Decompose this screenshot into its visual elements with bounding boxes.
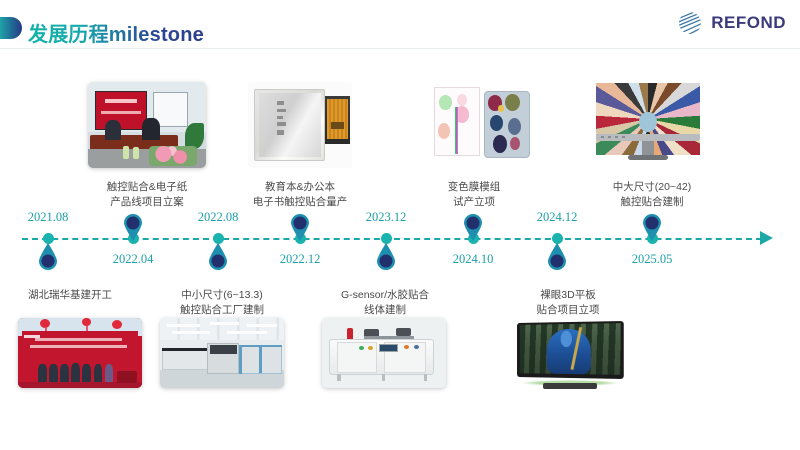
timeline-pin-marker-down[interactable] xyxy=(290,214,310,241)
photo-detail-bottle xyxy=(133,147,139,160)
groundbreaking-ceremony-photo xyxy=(18,318,142,388)
photo-detail-person xyxy=(38,364,47,382)
caption-line: 中小尺寸(6~13.3) xyxy=(180,288,264,303)
photo-detail-person xyxy=(60,364,69,382)
caption-line: 中大尺寸(20~42) xyxy=(613,180,691,195)
arrow-right-icon xyxy=(760,231,773,245)
photo-detail-monitor-base xyxy=(628,155,668,160)
epaper-panel-photo xyxy=(248,82,352,168)
milestone-caption: 触控贴合&电子纸 产品线项目立案 xyxy=(107,180,188,210)
photo-detail-bottle xyxy=(123,146,129,160)
milestone-caption: 中大尺寸(20~42) 触控贴合建制 xyxy=(613,180,691,210)
photo-detail-pencil-hub xyxy=(639,112,657,132)
caption-line: 产品线项目立案 xyxy=(107,195,188,210)
photo-detail-person xyxy=(49,364,58,383)
photo-detail-button xyxy=(368,346,373,350)
photo-detail-glyph xyxy=(277,109,286,112)
photo-detail-panel-body xyxy=(254,89,325,161)
milestone-date: 2022.08 xyxy=(198,210,239,225)
photo-detail-banner-text xyxy=(30,345,127,349)
photo-detail-driver-chip xyxy=(331,122,343,130)
milestone-date: 2022.12 xyxy=(280,252,321,267)
color-changing-film-module-photo xyxy=(428,82,536,168)
photo-detail-monitor-buttons xyxy=(601,136,626,139)
refond-sphere-logo-icon xyxy=(675,8,705,38)
timeline-pin-marker-up[interactable] xyxy=(38,243,58,270)
caption-line: 触控贴合建制 xyxy=(613,195,691,210)
photo-detail-person xyxy=(94,364,103,383)
photo-detail-podium xyxy=(117,371,137,384)
header-divider xyxy=(0,48,800,49)
caption-line: 湖北瑞华基建开工 xyxy=(28,288,112,303)
naked-eye-3d-display-photo xyxy=(508,316,632,390)
timeline-pin-marker-down[interactable] xyxy=(123,214,143,241)
milestone-date: 2021.08 xyxy=(28,210,69,225)
photo-detail-color-stem xyxy=(455,107,458,154)
photo-detail-person xyxy=(71,363,80,383)
photo-detail-glyph xyxy=(277,122,286,125)
photo-detail-glyph xyxy=(277,130,284,135)
photo-detail-person xyxy=(105,120,122,141)
caption-line: 教育本&办公本 xyxy=(253,180,348,195)
caption-line: 触控贴合工厂建制 xyxy=(180,303,264,318)
photo-detail-film-sheet-left xyxy=(434,87,479,156)
photo-detail-flowers xyxy=(149,146,196,167)
photo-detail-flex-cable xyxy=(327,99,348,139)
timeline-pin-marker-down[interactable] xyxy=(642,214,662,241)
page-title: 发展历程milestone xyxy=(28,18,204,47)
photo-detail-person xyxy=(105,364,114,382)
photo-detail-hmi-panel xyxy=(379,344,398,352)
timeline-pin-marker-up[interactable] xyxy=(547,243,567,270)
signing-ceremony-photo xyxy=(88,82,206,168)
caption-line: 线体建制 xyxy=(341,303,429,318)
photo-detail-person xyxy=(82,364,91,382)
logo-wordmark: REFOND xyxy=(711,13,786,33)
caption-line: 电子书触控贴合量产 xyxy=(253,195,348,210)
photo-detail-red-screen xyxy=(95,91,147,131)
milestone-caption: 裸眼3D平板 贴合项目立项 xyxy=(537,288,600,318)
title-accent-pill xyxy=(0,17,22,39)
milestone-date: 2022.04 xyxy=(113,252,154,267)
slide-canvas: 发展历程milestone xyxy=(0,0,800,450)
photo-detail-display-screen xyxy=(520,323,620,374)
timeline-pin-marker-up[interactable] xyxy=(376,243,396,270)
photo-detail-dispense-head xyxy=(396,328,411,336)
caption-line: 裸眼3D平板 xyxy=(537,288,600,303)
milestone-date: 2025.05 xyxy=(632,252,673,267)
caption-line: 变色膜模组 xyxy=(448,180,501,195)
photo-detail-film-sheet-right xyxy=(484,91,529,158)
caption-line: 触控贴合&电子纸 xyxy=(107,180,188,195)
timeline-pin-marker-down[interactable] xyxy=(463,214,483,241)
lamination-machine-photo xyxy=(322,318,446,388)
milestone-caption: 变色膜模组 试产立项 xyxy=(448,180,501,210)
photo-detail-signal-tower xyxy=(347,328,353,339)
photo-detail-machine-monitor xyxy=(210,345,237,355)
milestone-caption: G-sensor/水胶贴合 线体建制 xyxy=(341,288,429,318)
milestone-caption: 中小尺寸(6~13.3) 触控贴合工厂建制 xyxy=(180,288,264,318)
photo-detail-3d-character xyxy=(547,329,591,374)
milestone-date: 2024.10 xyxy=(453,252,494,267)
photo-detail-person xyxy=(142,118,160,140)
brand-logo: REFOND xyxy=(675,8,786,38)
photo-detail-display-frame xyxy=(517,321,624,379)
photo-detail-display-stand xyxy=(543,383,598,388)
photo-detail-monitor-stand-neck xyxy=(642,141,653,155)
milestone-caption: 湖北瑞华基建开工 xyxy=(28,288,112,303)
cleanroom-production-line-photo xyxy=(160,318,284,388)
milestone-date: 2024.12 xyxy=(537,210,578,225)
large-size-monitor-photo xyxy=(592,78,704,168)
photo-detail-banner-text xyxy=(35,338,122,342)
timeline-pin-marker-up[interactable] xyxy=(208,243,228,270)
timeline-axis: 2021.08 2022.08 2023.12 2024.12 2022.04 … xyxy=(0,210,800,290)
milestone-date: 2023.12 xyxy=(366,210,407,225)
milestone-caption: 教育本&办公本 电子书触控贴合量产 xyxy=(253,180,348,210)
photo-detail-glyph xyxy=(277,101,284,105)
caption-line: G-sensor/水胶贴合 xyxy=(341,288,429,303)
photo-detail-machine xyxy=(162,349,209,370)
photo-detail-panel-surface xyxy=(259,93,321,156)
photo-detail-glyph xyxy=(277,116,283,119)
caption-line: 试产立项 xyxy=(448,195,501,210)
